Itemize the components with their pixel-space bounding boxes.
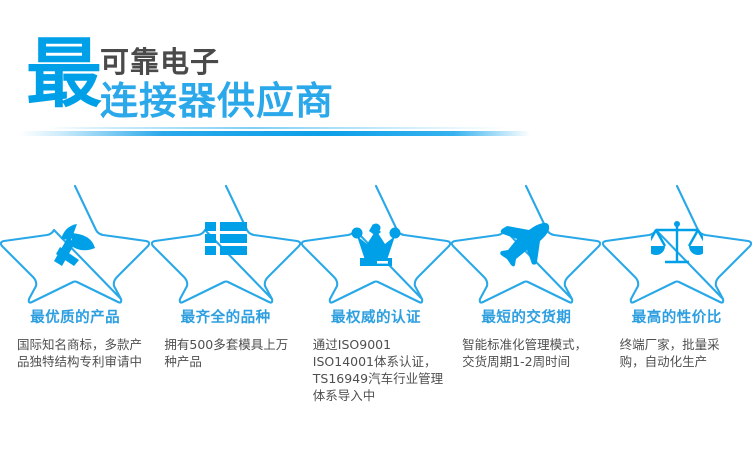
feature-item-variety[interactable]: 最齐全的品种 拥有500多套模具上万种产品 — [150, 180, 300, 420]
star-badge-5 — [602, 180, 752, 305]
feature-item-value[interactable]: 最高的性价比 终端厂家，批量采购，自动化生产 — [602, 180, 752, 420]
star-badge-1 — [0, 180, 150, 305]
feature-title: 最优质的产品 — [0, 309, 150, 327]
header-divider — [0, 126, 752, 138]
divider-thin-line — [48, 127, 508, 129]
feature-description: 终端厂家，批量采购，自动化生产 — [602, 336, 752, 370]
crown-certificate-icon — [348, 220, 404, 270]
headline-line-1: 可靠电子 — [100, 46, 220, 78]
feature-item-certification[interactable]: 最权威的认证 通过ISO9001 ISO14001体系认证，TS16949汽车行… — [301, 180, 451, 420]
feature-item-quality[interactable]: 最优质的产品 国际知名商标，多款产品独特结构专利审请中 — [0, 180, 150, 420]
feature-title: 最高的性价比 — [602, 309, 752, 327]
headline-line-2: 连接器供应商 — [100, 80, 334, 122]
feature-description: 国际知名商标，多款产品独特结构专利审请中 — [0, 336, 150, 370]
feature-title: 最短的交货期 — [451, 309, 601, 327]
feature-list: 最优质的产品 国际知名商标，多款产品独特结构专利审请中 最齐全的品种 拥有500… — [0, 180, 752, 420]
airplane-icon — [499, 220, 553, 268]
feature-title: 最齐全的品种 — [150, 309, 300, 327]
satellite-dish-icon — [47, 220, 103, 272]
feature-item-delivery[interactable]: 最短的交货期 智能标准化管理模式，交货周期1-2周时间 — [451, 180, 601, 420]
star-badge-4 — [451, 180, 601, 305]
header-banner: 最 可靠电子 连接器供应商 — [0, 0, 752, 150]
feature-title: 最权威的认证 — [301, 309, 451, 327]
star-badge-3 — [301, 180, 451, 305]
balance-scale-icon — [651, 220, 703, 270]
headline-big-character: 最 — [26, 30, 102, 118]
feature-description: 拥有500多套模具上万种产品 — [150, 336, 300, 370]
list-grid-icon — [201, 220, 251, 258]
headline-block: 最 可靠电子 连接器供应商 — [26, 30, 456, 125]
divider-thick-line — [20, 131, 530, 136]
feature-description: 通过ISO9001 ISO14001体系认证，TS16949汽车行业管理体系导入… — [301, 336, 451, 404]
star-badge-2 — [151, 180, 301, 305]
feature-description: 智能标准化管理模式，交货周期1-2周时间 — [451, 336, 601, 370]
